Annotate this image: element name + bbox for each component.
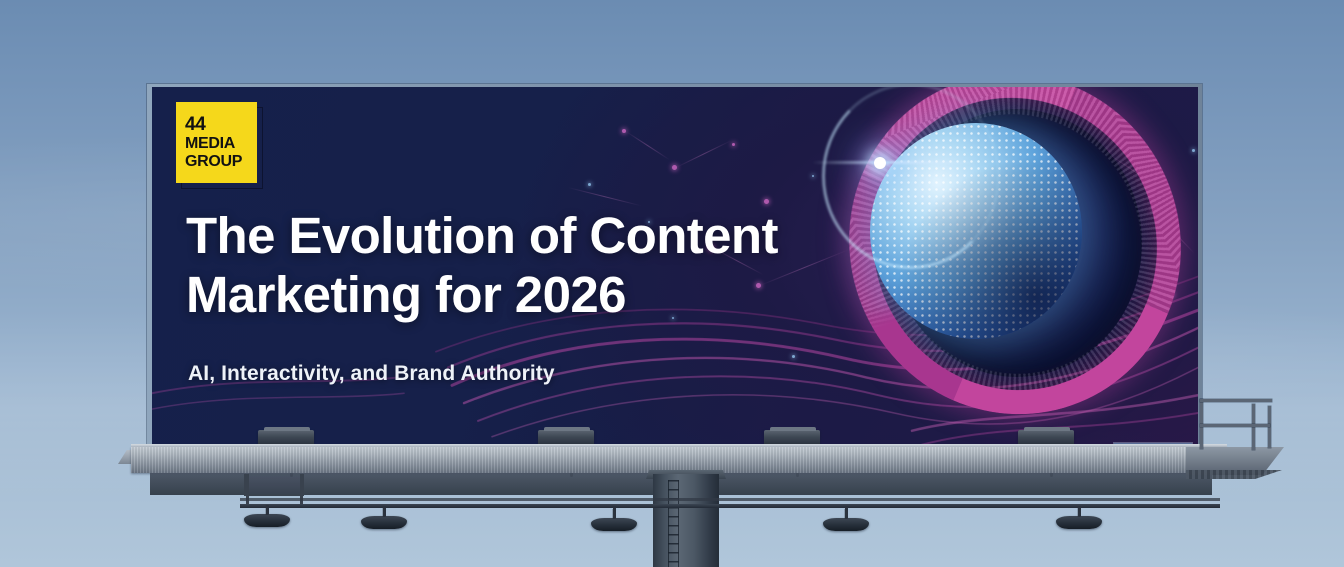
catwalk-texture	[131, 447, 1227, 473]
flood-light	[823, 518, 869, 531]
flood-light	[1056, 516, 1102, 529]
support-arm	[300, 474, 303, 506]
logo-line-3: GROUP	[185, 153, 257, 170]
particle-node	[588, 183, 591, 186]
railing-post	[1268, 406, 1271, 448]
logo-line-2: MEDIA	[185, 135, 257, 152]
ai-sphere-torus-graphic	[792, 87, 1198, 445]
network-line	[626, 131, 670, 160]
flood-light	[244, 514, 290, 527]
light-bar	[240, 504, 1220, 508]
flood-light	[361, 516, 407, 529]
logo[interactable]: 44 MEDIA GROUP	[176, 102, 258, 184]
light-bar-upper	[240, 498, 1220, 501]
billboard-face: 44 MEDIA GROUP The Evolution of Content …	[152, 87, 1198, 445]
billboard[interactable]: 44 MEDIA GROUP The Evolution of Content …	[147, 84, 1202, 448]
catwalk	[131, 447, 1227, 473]
railing-mid-bar	[1200, 424, 1270, 427]
column-ladder	[668, 480, 679, 567]
particle-node	[732, 143, 735, 146]
logo-line-1: 44	[185, 115, 257, 136]
support-arm	[246, 474, 249, 506]
service-cage	[244, 474, 304, 496]
billboard-scene: 44 MEDIA GROUP The Evolution of Content …	[0, 0, 1344, 567]
support-column	[653, 474, 719, 567]
network-line	[568, 187, 642, 206]
right-platform-deck	[1186, 470, 1282, 479]
railing-top-bar	[1200, 399, 1272, 402]
logo-square: 44 MEDIA GROUP	[176, 102, 257, 183]
railing-post	[1252, 404, 1255, 450]
flood-light	[591, 518, 637, 531]
subhead: AI, Interactivity, and Brand Authority	[188, 362, 555, 386]
headline: The Evolution of Content Marketing for 2…	[186, 206, 826, 324]
network-line	[676, 140, 732, 168]
particle-node	[764, 199, 769, 204]
